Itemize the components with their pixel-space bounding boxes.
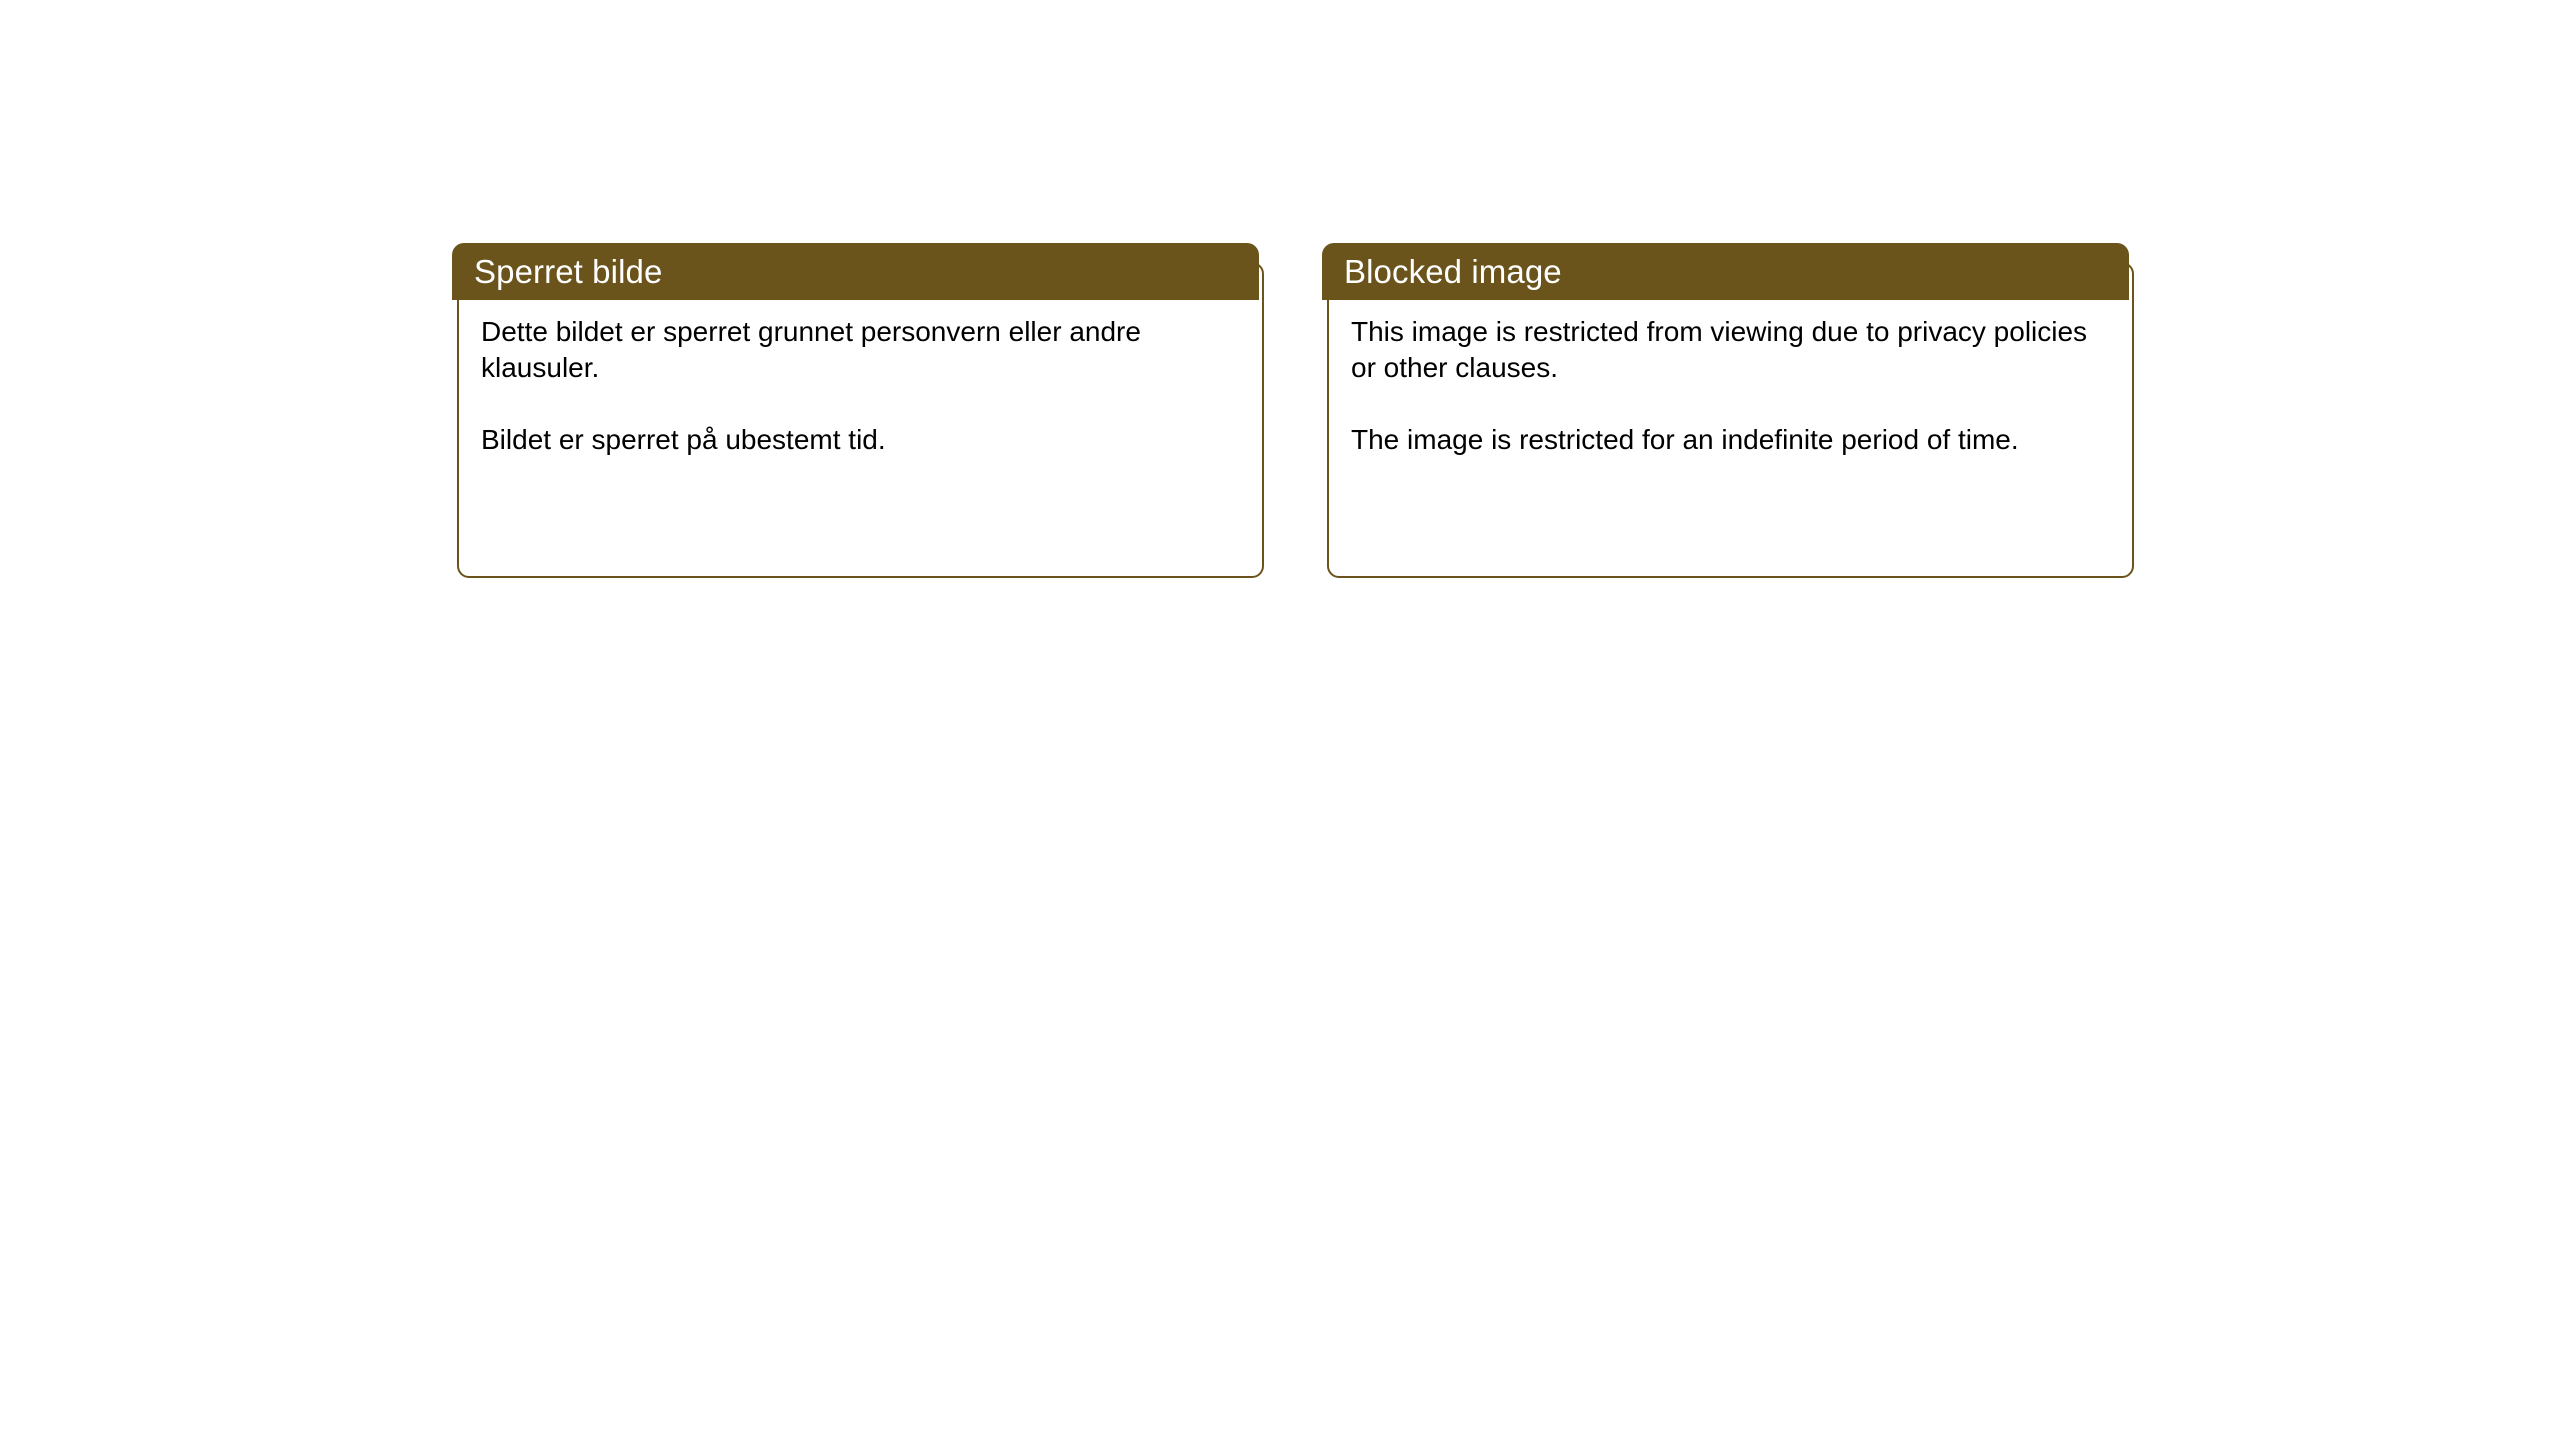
blocked-image-panel-norwegian: Sperret bilde Dette bildet er sperret gr… xyxy=(452,243,1264,578)
panel-paragraph-secondary-norwegian: Bildet er sperret på ubestemt tid. xyxy=(481,422,1240,458)
panel-paragraph-secondary-english: The image is restricted for an indefinit… xyxy=(1351,422,2110,458)
paragraph-spacer xyxy=(1351,386,2110,422)
panel-content-english: This image is restricted from viewing du… xyxy=(1327,300,2134,578)
panel-paragraph-primary-english: This image is restricted from viewing du… xyxy=(1351,314,2110,386)
panel-paragraph-primary-norwegian: Dette bildet er sperret grunnet personve… xyxy=(481,314,1240,386)
blocked-image-panel-english: Blocked image This image is restricted f… xyxy=(1322,243,2134,578)
paragraph-spacer xyxy=(481,386,1240,422)
panel-header-norwegian: Sperret bilde xyxy=(452,243,1259,300)
panel-header-english: Blocked image xyxy=(1322,243,2129,300)
panel-title-english: Blocked image xyxy=(1344,254,1562,290)
panel-content-norwegian: Dette bildet er sperret grunnet personve… xyxy=(457,300,1264,578)
blocked-image-notice-group: Sperret bilde Dette bildet er sperret gr… xyxy=(452,243,2134,578)
panel-title-norwegian: Sperret bilde xyxy=(474,254,662,290)
